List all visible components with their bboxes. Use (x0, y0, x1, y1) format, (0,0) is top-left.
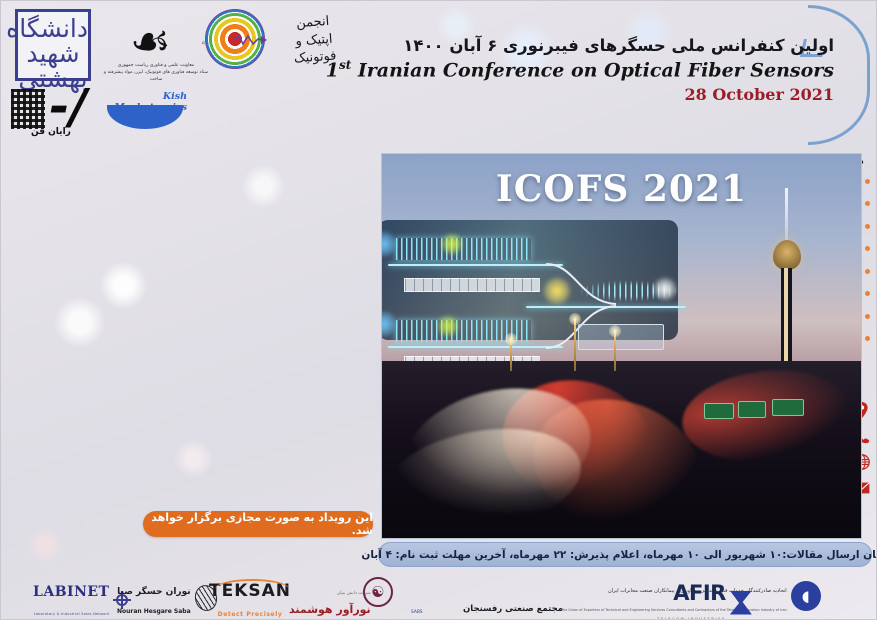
highway-night-scene (382, 361, 861, 538)
hero-photo: ICOFS 2021 (381, 153, 862, 539)
nooravar-label: نورآور هوشمند (289, 603, 371, 616)
bullet-icon (865, 314, 870, 319)
teksan-sublabel: Detect Precisely (218, 611, 283, 618)
road-sign (704, 403, 734, 419)
bullet-icon (865, 224, 870, 229)
rayan-fan-slash-mark: /- (41, 87, 87, 131)
bullet-icon (865, 179, 870, 184)
road-sign (772, 399, 804, 416)
tower-mast (785, 188, 788, 248)
sponsor-nouran-hesgare-saba: نوران حسگر صبا Nouran Hesgare Saba (117, 579, 217, 617)
rayan-fan-logo: /- رایان فن (11, 87, 107, 133)
kish-mechatronics-logo: Kish Mechatronics (103, 91, 187, 131)
bullet-icon (865, 201, 870, 206)
svg-text:Optics and Photonics Society o: Optics and Photonics Society of Iran (197, 3, 207, 45)
tower-pod (773, 240, 801, 270)
waveguide-bottom (388, 346, 563, 348)
labinet-sublabel: Laboratory & Industrial Sales Network (34, 612, 110, 616)
union-mark-icon: ◖ (791, 581, 821, 611)
iran-emblem-caption: معاونت علمی و فناوری ریاست جمهوری ستاد ت… (101, 63, 211, 84)
bullet-icon (865, 269, 870, 274)
sponsor-safir: AFIR TELECOM INDUSTRIES (657, 581, 752, 620)
deadline-banner: زمان ارسال مقالات:۱۰ شهریور الی ۱۰ مهرما… (378, 542, 872, 567)
safir-mark-icon (730, 591, 752, 615)
headline-persian: اولین کنفرانس ملی حسگرهای فیبرنوری ۶ آبا… (314, 35, 834, 57)
iran-emblem-logo: ☙ (116, 11, 182, 71)
rayan-fan-label: رایان فن (31, 127, 71, 137)
kish-mechatronics-label: Kish Mechatronics (109, 91, 187, 113)
sponsor-sabs: SABS (411, 579, 423, 617)
sponsor-rafsanjan-industrial-complex: مجتمع صنعتی رفسنجان (463, 577, 563, 615)
waveguide-top (388, 264, 563, 266)
bullet-icon (865, 291, 870, 296)
sponsor-nooravar-hooshmand: شرکت دانش بنیان نورآور هوشمند (289, 579, 371, 617)
headline-english-rest: Iranian Conference on Optical Fiber Sens… (358, 60, 834, 82)
photonic-chip-illustration (381, 220, 678, 340)
headline-ordinal-suffix: st (339, 58, 351, 72)
fbg-comb-top (396, 238, 531, 260)
safir-label: AFIR (673, 581, 726, 605)
glow-blob (438, 316, 458, 336)
deadline-text: زمان ارسال مقالات:۱۰ شهریور الی ۱۰ مهرما… (361, 549, 877, 561)
grating-block-top (404, 278, 540, 292)
bullet-icon (865, 336, 870, 341)
sponsor-strip: LABINET Laboratory & Industrial Sales Ne… (1, 571, 877, 620)
shahid-beheshti-university-logo: دانشگاهشهیدبهشتی (15, 9, 91, 81)
headline-ordinal-number: 1 (326, 60, 339, 82)
caliper-icon (578, 324, 664, 350)
street-lamp (614, 331, 616, 371)
nouran-label-en: Nouran Hesgare Saba (117, 608, 191, 615)
iran-tulip-icon: ☙ (130, 18, 168, 64)
opsi-arrow-icon (233, 31, 267, 43)
headline-date: 28 October 2021 (314, 85, 834, 104)
bullet-icon (865, 246, 870, 251)
glow-blob (442, 234, 462, 254)
labinet-label: LABINET (33, 584, 109, 600)
glow-blob (654, 278, 676, 300)
sabs-label: SABS (411, 610, 423, 615)
nouran-label-fa: نوران حسگر صبا (117, 587, 190, 597)
glow-blob (381, 232, 396, 256)
rayan-fan-pixel-mark (11, 89, 45, 129)
headline-english: 1st Iranian Conference on Optical Fiber … (314, 58, 834, 81)
virtual-event-banner: این رویداد به صورت مجازی برگزار خواهد شد… (143, 511, 373, 537)
sponsor-nic: ☯ (363, 577, 393, 607)
sponsor-teksan: TEKSAN Detect Precisely (209, 581, 291, 620)
nic-mark-icon: ☯ (363, 577, 393, 607)
rafsanjan-label: مجتمع صنعتی رفسنجان (463, 604, 563, 614)
road-sign (738, 401, 766, 418)
glow-blob (381, 312, 396, 336)
poster-headline: اولین کنفرانس ملی حسگرهای فیبرنوری ۶ آبا… (314, 35, 834, 104)
glow-blob (544, 278, 570, 304)
street-lamp (574, 319, 576, 371)
conference-poster: دانشگاهشهیدبهشتی ☙ معاونت علمی و فناوری … (0, 0, 877, 620)
